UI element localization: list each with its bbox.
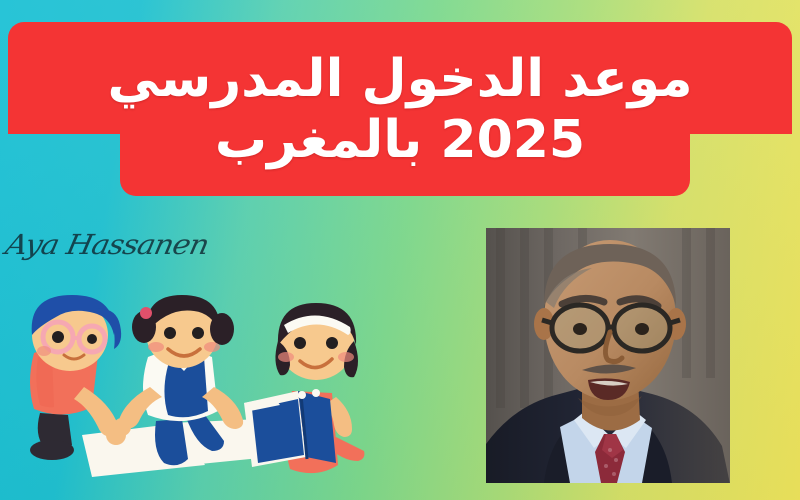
headline-banner-top [8, 22, 792, 134]
headline-banner-bottom [120, 120, 690, 196]
child-blue-hair-glasses [30, 295, 126, 460]
children-illustration [30, 295, 400, 490]
signature-watermark: Aya Hassanen [3, 229, 212, 261]
open-blue-book [244, 391, 336, 467]
child-reading-book [244, 303, 364, 473]
man-portrait-photo [486, 228, 730, 483]
poster-canvas: موعد الدخول المدرسي 2025 بالمغرب Aya Has… [0, 0, 800, 500]
